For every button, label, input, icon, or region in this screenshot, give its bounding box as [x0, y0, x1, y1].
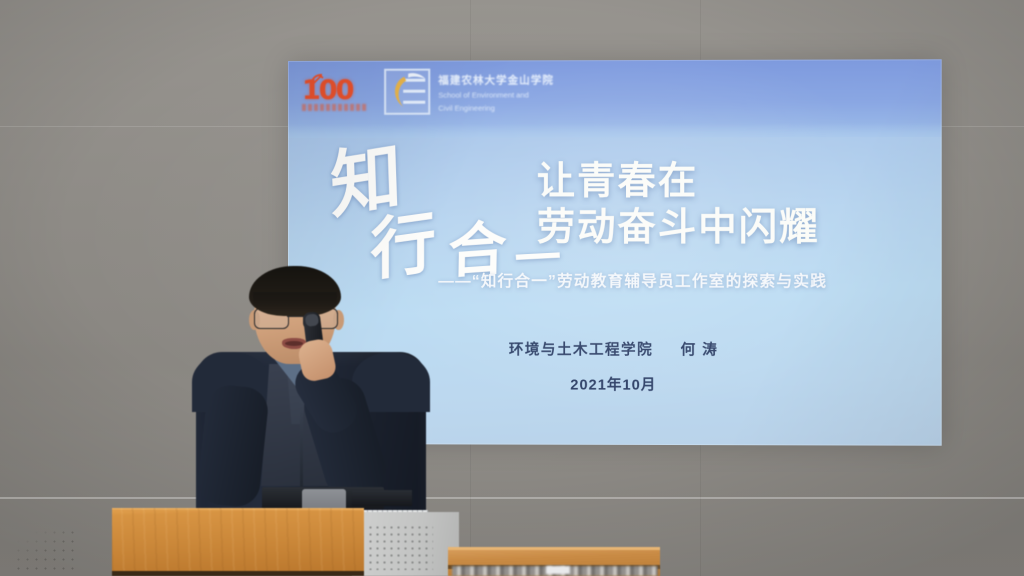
emblem-swoosh-icon [384, 69, 430, 115]
school-name-en-line2: Civil Engineering [438, 103, 639, 113]
slide-subtitle: ——“知行合一”劳动教育辅导员工作室的探索与实践 [438, 269, 943, 291]
under-table-white-object [546, 566, 570, 574]
hair [249, 266, 341, 316]
school-emblem [384, 69, 430, 115]
speaker-grille [367, 524, 433, 570]
school-name-block: 福建农林大学金山学院 School of Environment and Civ… [438, 72, 639, 113]
av-speaker-cabinet [352, 512, 459, 576]
wall-seam-lower [0, 497, 1024, 499]
slide-title: 让青春在 劳动奋斗中闪耀 [537, 158, 932, 251]
cpc-centennial-100-logo: 100 [302, 73, 368, 113]
perforated-acoustic-panel [14, 528, 74, 576]
slide-title-line1: 让青春在 [537, 158, 932, 205]
lectern-base [112, 571, 364, 576]
hammer-and-sickle-icon [311, 73, 324, 85]
lectern-wood-grain [112, 508, 364, 576]
photo-scene: 100 福建农林大学金山学院 School of Environment and… [0, 0, 1024, 576]
table-top-edge [448, 547, 660, 550]
slide-title-line2: 劳动奋斗中闪耀 [537, 205, 932, 251]
school-name-en-line1: School of Environment and [438, 90, 639, 100]
school-name-cn: 福建农林大学金山学院 [438, 72, 639, 88]
presenter-name: 何 涛 [681, 342, 719, 358]
wooden-lectern [112, 508, 364, 576]
presenter-org: 环境与土木工程学院 [509, 342, 653, 358]
arm-left [196, 383, 270, 509]
cpc-logo-subtext [302, 104, 368, 111]
podium-monitor-secondary [352, 490, 412, 506]
